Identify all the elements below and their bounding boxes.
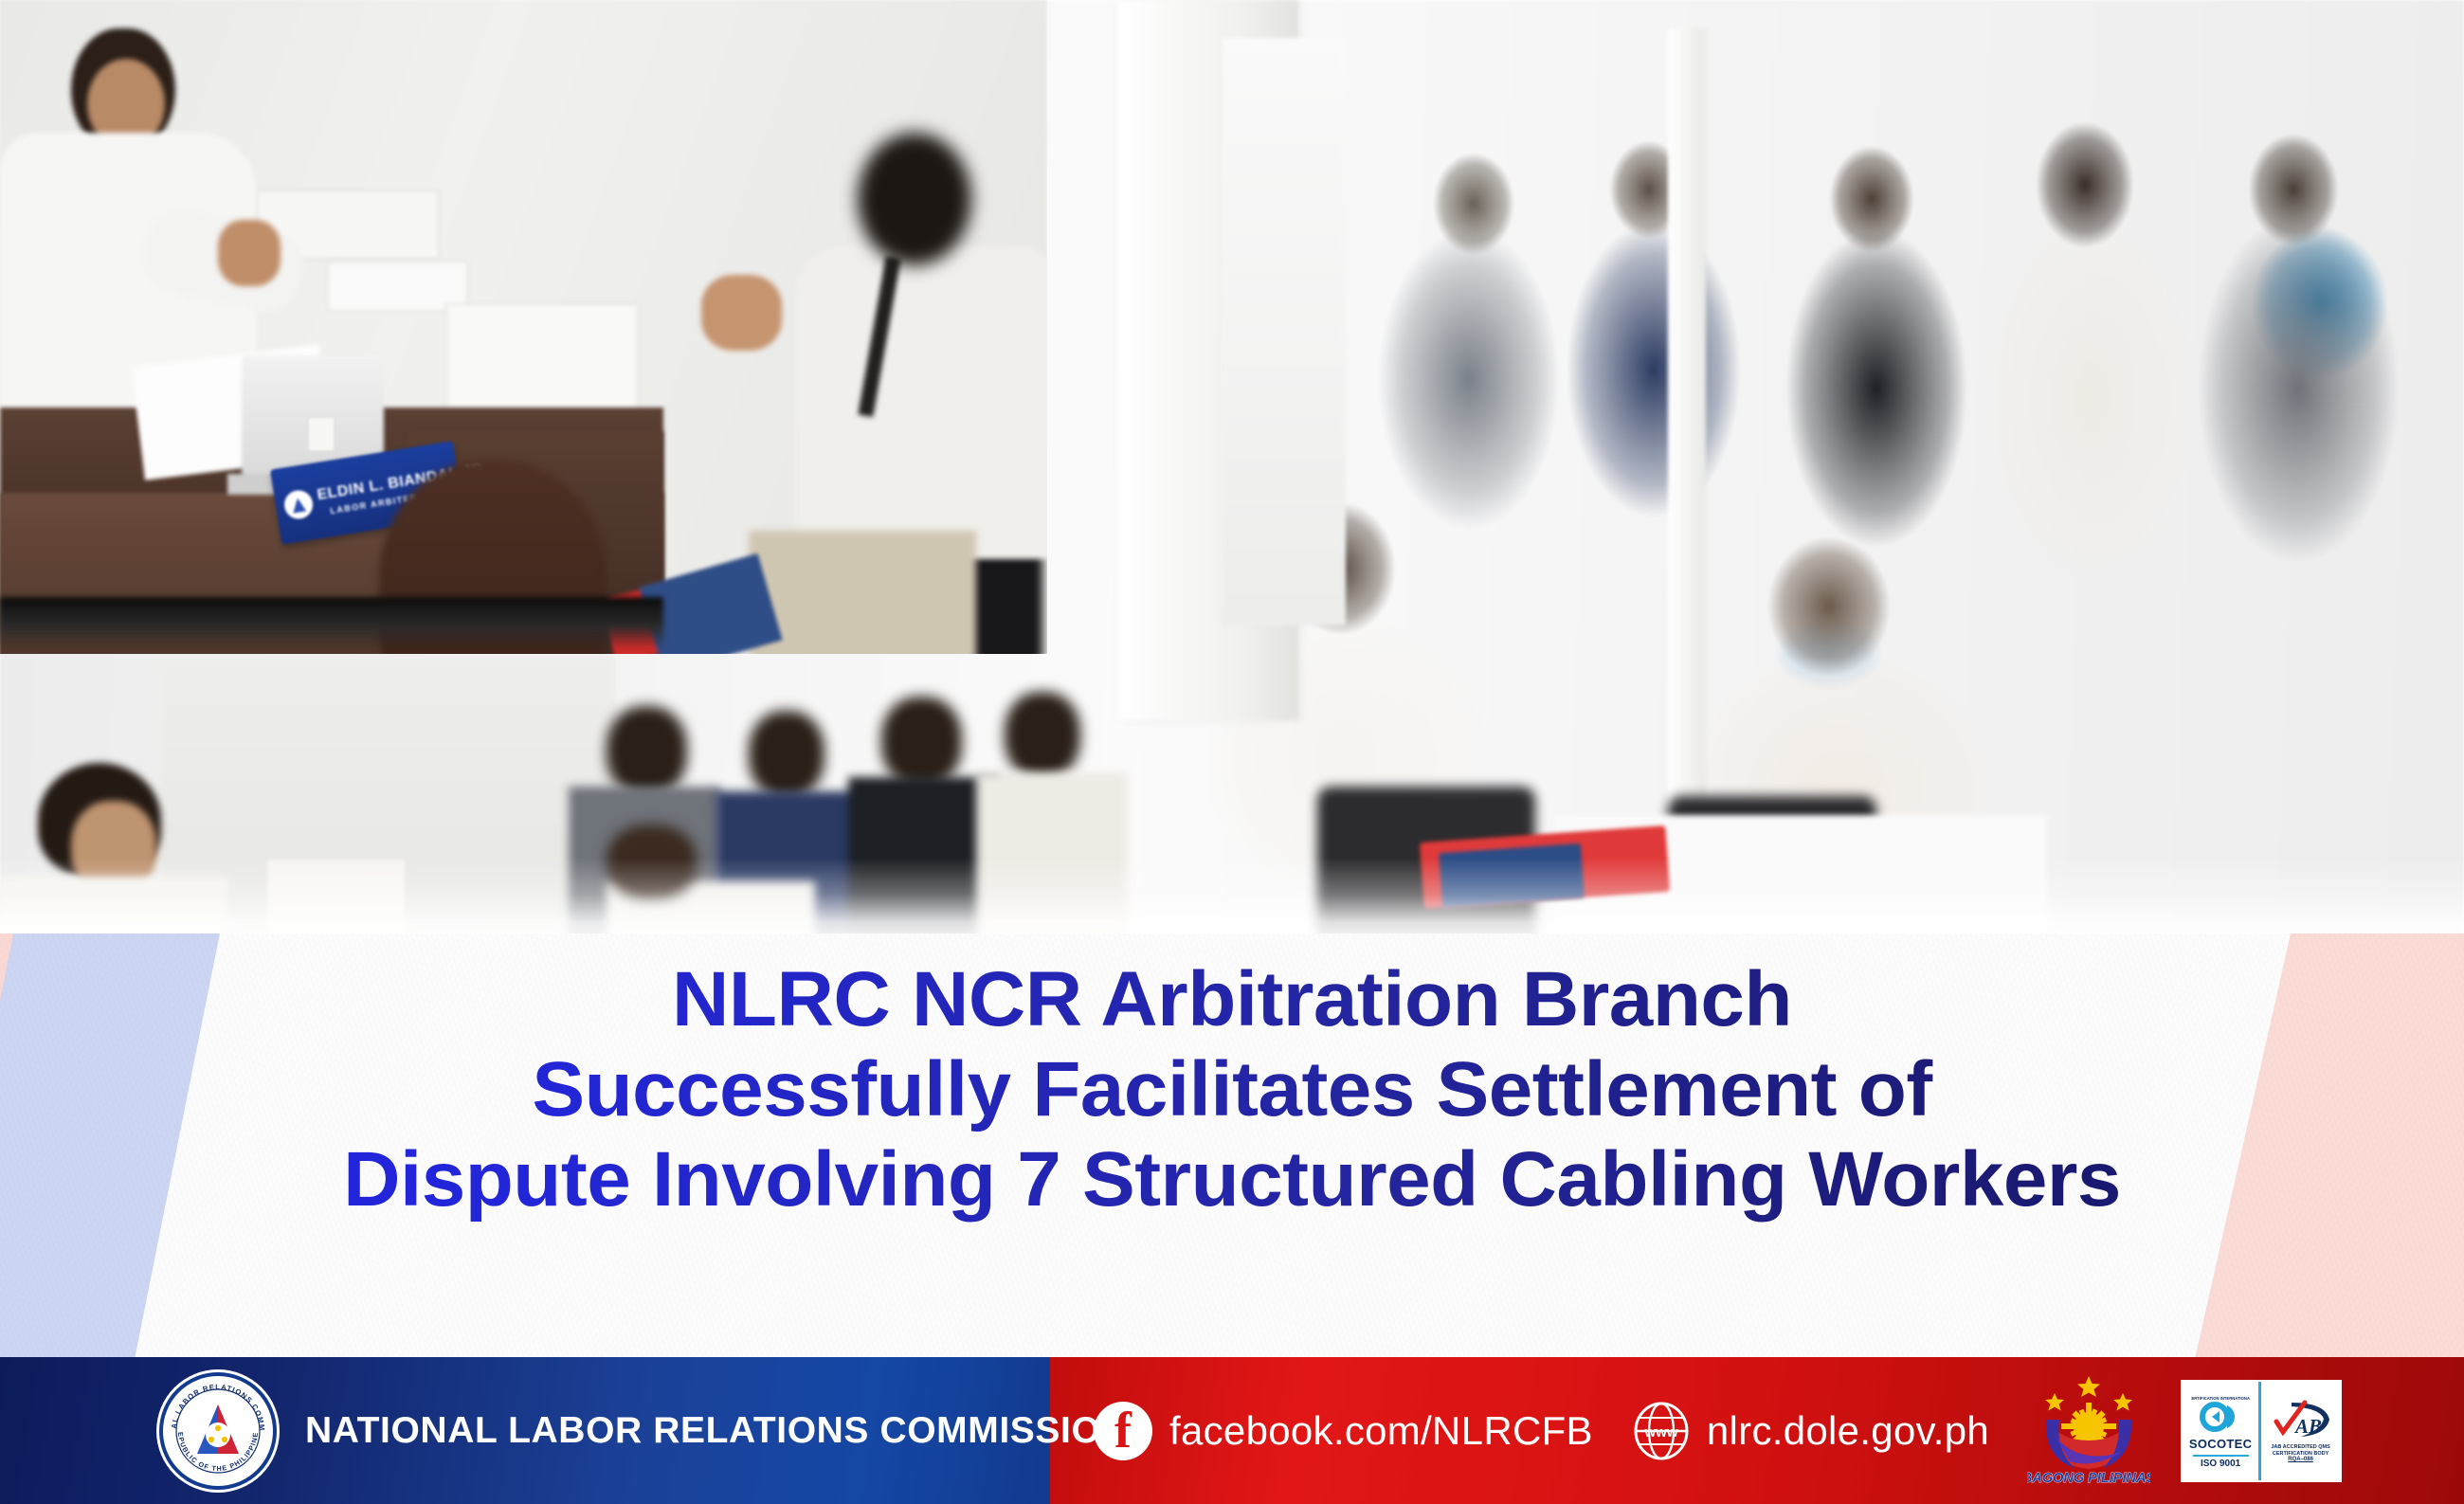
socotec-badge: CERTIFICATION INTERNATIONAL SOCOTEC ISO … bbox=[2183, 1382, 2261, 1480]
labor-arbiter-hearing-photo: ELDIN L. BIANDAL JR. LABOR ARBITER bbox=[0, 0, 1047, 654]
jab-sub-line-1: JAB ACCREDITED QMS bbox=[2271, 1444, 2329, 1450]
facebook-icon bbox=[1094, 1402, 1152, 1460]
facebook-link[interactable]: facebook.com/NLRCFB bbox=[1094, 1402, 1593, 1460]
light-switch bbox=[308, 417, 335, 451]
standing-person-2-head bbox=[749, 711, 824, 798]
organization-name: NATIONAL LABOR RELATIONS COMMISSION bbox=[305, 1410, 1128, 1452]
page-title: NLRC NCR Arbitration Branch Successfully… bbox=[0, 954, 2464, 1224]
headline-line-2: Successfully Facilitates Settlement of bbox=[0, 1044, 2464, 1134]
jab-reference: RQA–086 bbox=[2288, 1457, 2313, 1462]
inset-bottom-shadow bbox=[0, 597, 663, 649]
jab-subtitle: JAB ACCREDITED QMS CERTIFICATION BODY bbox=[2271, 1444, 2329, 1458]
door-glass-panel bbox=[1223, 38, 1346, 625]
poster-root: ELDIN L. BIANDAL JR. LABOR ARBITER NLRC … bbox=[0, 0, 2464, 1504]
facebook-handle: facebook.com/NLRCFB bbox=[1169, 1408, 1593, 1454]
headline-line-1: NLRC NCR Arbitration Branch bbox=[0, 954, 2464, 1044]
jab-mark-icon: AB bbox=[2267, 1399, 2335, 1442]
visitor-body bbox=[796, 246, 1047, 559]
visitor-pants bbox=[749, 531, 976, 654]
bagong-pilipinas-logo: BAGONG PILIPINAS bbox=[2027, 1374, 2150, 1488]
globe-www-icon: www bbox=[1633, 1402, 1690, 1460]
footer-bar: NATIONAL LABOR RELATIONS COMMISSION REPU… bbox=[0, 1357, 2464, 1504]
svg-text:BAGONG PILIPINAS: BAGONG PILIPINAS bbox=[2027, 1471, 2150, 1486]
nlrc-seal-icon: NATIONAL LABOR RELATIONS COMMISSION REPU… bbox=[159, 1372, 277, 1490]
footer-blue-section: NATIONAL LABOR RELATIONS COMMISSION REPU… bbox=[0, 1357, 1050, 1504]
nameplate-seal-icon bbox=[282, 488, 315, 520]
arbiter-hand bbox=[218, 220, 281, 286]
footer-red-section: facebook.com/NLRCFB www nlrc.dole.gov.ph bbox=[1050, 1357, 2464, 1504]
standing-person-1-head bbox=[607, 706, 687, 796]
open-door bbox=[1668, 28, 1706, 862]
website-url: nlrc.dole.gov.ph bbox=[1707, 1408, 1989, 1454]
socotec-mark-icon: CERTIFICATION INTERNATIONAL bbox=[2191, 1393, 2250, 1435]
visitor-hand bbox=[701, 275, 782, 351]
headline-line-3: Dispute Involving 7 Structured Cabling W… bbox=[0, 1134, 2464, 1224]
headline-band: NLRC NCR Arbitration Branch Successfully… bbox=[0, 933, 2464, 1357]
website-link[interactable]: www nlrc.dole.gov.ph bbox=[1633, 1402, 1989, 1460]
certification-badges: CERTIFICATION INTERNATIONAL SOCOTEC ISO … bbox=[2181, 1380, 2342, 1482]
svg-text:CERTIFICATION INTERNATIONAL: CERTIFICATION INTERNATIONAL bbox=[2191, 1396, 2250, 1401]
standing-person-4-head bbox=[1005, 692, 1080, 779]
socotec-name: SOCOTEC bbox=[2189, 1437, 2252, 1451]
svg-text:AB: AB bbox=[2293, 1415, 2322, 1438]
visitor-head-blurred bbox=[858, 133, 971, 265]
jab-badge: AB JAB ACCREDITED QMS CERTIFICATION BODY… bbox=[2261, 1382, 2340, 1480]
photo-collage: ELDIN L. BIANDAL JR. LABOR ARBITER bbox=[0, 0, 2464, 948]
svg-text:www: www bbox=[1643, 1424, 1677, 1441]
standing-person-3-head bbox=[881, 697, 962, 787]
jab-sub-line-2: CERTIFICATION BODY bbox=[2273, 1451, 2328, 1457]
socotec-iso: ISO 9001 bbox=[2193, 1455, 2249, 1469]
